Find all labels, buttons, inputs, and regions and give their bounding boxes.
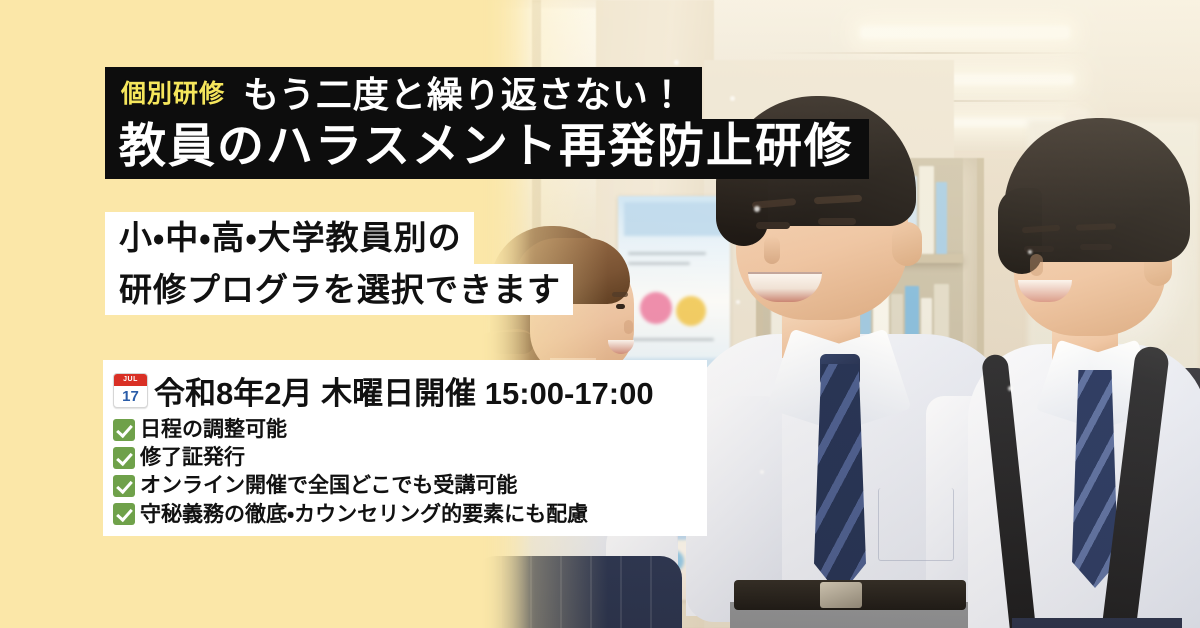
ceiling-seam — [768, 52, 1088, 54]
list-item: 修了証発行 — [113, 445, 707, 470]
nose — [764, 236, 780, 264]
list-item: 日程の調整可能 — [113, 417, 707, 442]
belt-buckle — [820, 582, 862, 608]
subheading-line-2: 研修プログラを選択できます — [105, 264, 573, 316]
check-icon — [113, 419, 135, 441]
nose — [1030, 254, 1043, 276]
male-student — [968, 118, 1200, 628]
date-row: JUL 17 令和8年2月 木曜日開催 15:00-17:00 — [103, 360, 707, 415]
eyebrow — [612, 292, 628, 297]
student-skirt — [474, 556, 682, 628]
headline-block: 個別研修 もう二度と繰り返さない！ 教員のハラスメント再発防止研修 — [105, 67, 869, 179]
calendar-day: 17 — [114, 386, 147, 407]
eye — [1080, 244, 1112, 250]
eye — [756, 222, 790, 229]
eye — [616, 304, 625, 309]
headline-line-2: 教員のハラスメント再発防止研修 — [105, 119, 869, 179]
calendar-month: JUL — [114, 374, 147, 386]
training-type-badge: 個別研修 — [119, 78, 227, 111]
checklist-label: オンライン開催で全国どこでも受講可能 — [140, 473, 517, 498]
checklist-label: 守秘義務の徹底・カウンセリング的要素にも配慮 — [140, 502, 588, 527]
feature-checklist: 日程の調整可能 修了証発行 オンライン開催で全国どこでも受講可能 守秘義務の徹底… — [103, 415, 707, 527]
shirt-pocket — [878, 488, 954, 561]
subheading-line-1: 小・中・高・大学教員別の — [105, 212, 474, 264]
list-item: 守秘義務の徹底・カウンセリング的要素にも配慮 — [113, 502, 707, 527]
list-item: オンライン開催で全国どこでも受講可能 — [113, 473, 707, 498]
hair-tie — [490, 332, 534, 354]
headline-title: 教員のハラスメント再発防止研修 — [119, 121, 853, 170]
student-trousers — [1012, 618, 1182, 628]
eye — [818, 218, 856, 225]
headline-line-1: 個別研修 もう二度と繰り返さない！ — [105, 67, 702, 120]
event-datetime: 令和8年2月 木曜日開催 15:00-17:00 — [154, 368, 654, 413]
subheading-block: 小・中・高・大学教員別の 研修プログラを選択できます — [105, 212, 573, 315]
calendar-icon: JUL 17 — [113, 373, 148, 408]
checklist-label: 日程の調整可能 — [140, 417, 287, 442]
striped-necktie — [814, 364, 866, 596]
headline-tagline: もう二度と繰り返さない！ — [243, 76, 686, 114]
check-icon — [113, 475, 135, 497]
ear — [892, 222, 922, 266]
check-icon — [113, 447, 135, 469]
promo-poster: 個別研修 もう二度と繰り返さない！ 教員のハラスメント再発防止研修 小・中・高・… — [0, 0, 1200, 628]
schedule-info-box: JUL 17 令和8年2月 木曜日開催 15:00-17:00 日程の調整可能 … — [103, 360, 707, 536]
nose — [624, 320, 633, 334]
checklist-label: 修了証発行 — [140, 445, 245, 470]
check-icon — [113, 503, 135, 525]
ceiling-light — [860, 26, 1070, 39]
